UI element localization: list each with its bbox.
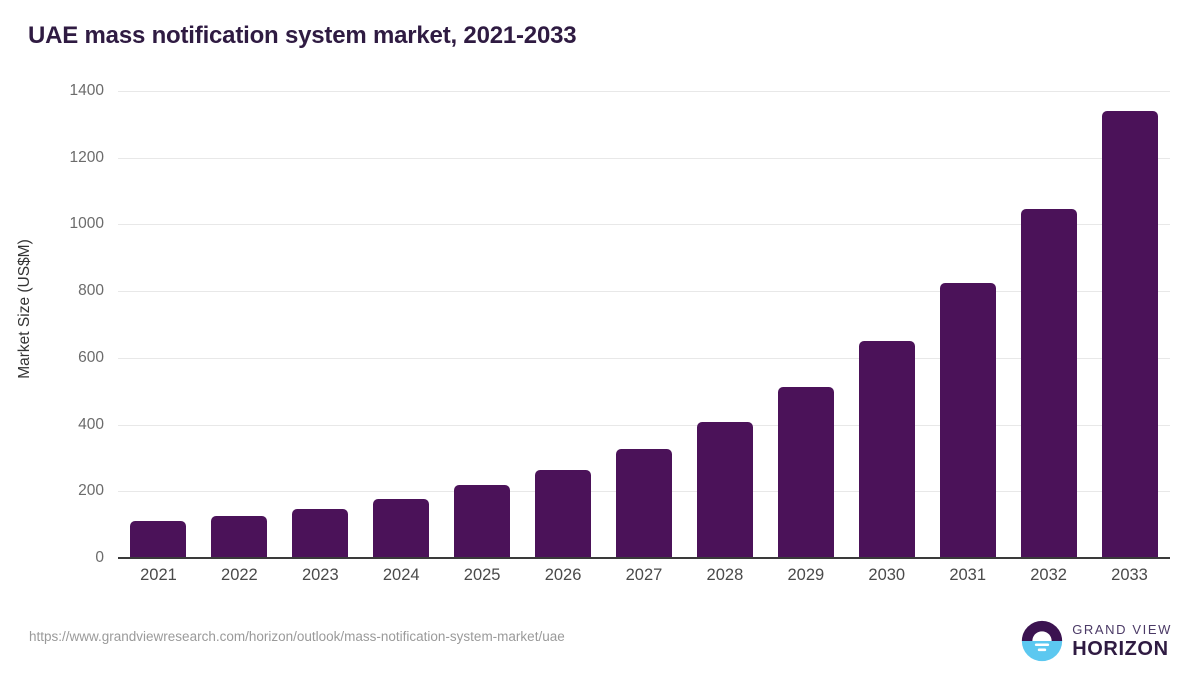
bar-2032[interactable] — [1021, 209, 1077, 558]
bar-2024[interactable] — [373, 499, 429, 558]
y-axis-label: Market Size (US$M) — [16, 129, 34, 489]
x-axis-line — [118, 557, 1170, 559]
bar-2026[interactable] — [535, 470, 591, 558]
bar-2022[interactable] — [211, 516, 267, 558]
x-axis-tick-label: 2022 — [199, 566, 280, 594]
bar-slot — [1089, 91, 1170, 558]
y-axis-ticks: 0200400600800100012001400 — [28, 91, 104, 558]
bar-slot — [361, 91, 442, 558]
y-axis-tick-label: 600 — [34, 349, 104, 367]
y-axis-tick-label: 200 — [34, 482, 104, 500]
bar-2025[interactable] — [454, 485, 510, 558]
bar-slot — [846, 91, 927, 558]
y-axis-tick-label: 0 — [34, 549, 104, 567]
brand-logo: GRAND VIEW HORIZON — [1021, 620, 1172, 662]
y-axis-tick-label: 1400 — [34, 82, 104, 100]
bar-slot — [280, 91, 361, 558]
x-axis-tick-label: 2030 — [846, 566, 927, 594]
x-axis-tick-label: 2028 — [684, 566, 765, 594]
x-axis-ticks: 2021202220232024202520262027202820292030… — [118, 566, 1170, 594]
bar-2029[interactable] — [778, 387, 834, 558]
x-axis-tick-label: 2021 — [118, 566, 199, 594]
bar-slot — [684, 91, 765, 558]
bar-2028[interactable] — [697, 422, 753, 558]
bar-2030[interactable] — [859, 341, 915, 558]
bar-series — [118, 91, 1170, 558]
bar-slot — [604, 91, 685, 558]
bar-slot — [118, 91, 199, 558]
bar-slot — [199, 91, 280, 558]
bar-slot — [442, 91, 523, 558]
chart-figure: UAE mass notification system market, 202… — [0, 0, 1200, 675]
y-axis-tick-label: 400 — [34, 416, 104, 434]
x-axis-tick-label: 2033 — [1089, 566, 1170, 594]
bar-slot — [765, 91, 846, 558]
bar-2023[interactable] — [292, 509, 348, 558]
x-axis-tick-label: 2023 — [280, 566, 361, 594]
bar-2027[interactable] — [616, 449, 672, 558]
brand-line-1: GRAND VIEW — [1072, 623, 1172, 636]
x-axis-tick-label: 2026 — [523, 566, 604, 594]
page-title: UAE mass notification system market, 202… — [28, 22, 576, 50]
bar-slot — [1008, 91, 1089, 558]
bar-2033[interactable] — [1102, 111, 1158, 558]
y-axis-tick-label: 800 — [34, 282, 104, 300]
x-axis-tick-label: 2029 — [765, 566, 846, 594]
bar-2021[interactable] — [130, 521, 186, 558]
x-axis-tick-label: 2025 — [442, 566, 523, 594]
x-axis-tick-label: 2024 — [361, 566, 442, 594]
brand-text: GRAND VIEW HORIZON — [1072, 623, 1172, 659]
brand-line-2: HORIZON — [1072, 639, 1172, 659]
y-axis-tick-label: 1000 — [34, 215, 104, 233]
x-axis-tick-label: 2027 — [604, 566, 685, 594]
source-url[interactable]: https://www.grandviewresearch.com/horizo… — [29, 629, 565, 644]
bar-slot — [927, 91, 1008, 558]
bar-2031[interactable] — [940, 283, 996, 558]
bar-slot — [523, 91, 604, 558]
grand-view-horizon-logo-icon — [1021, 620, 1063, 662]
x-axis-tick-label: 2031 — [927, 566, 1008, 594]
x-axis-tick-label: 2032 — [1008, 566, 1089, 594]
y-axis-tick-label: 1200 — [34, 149, 104, 167]
